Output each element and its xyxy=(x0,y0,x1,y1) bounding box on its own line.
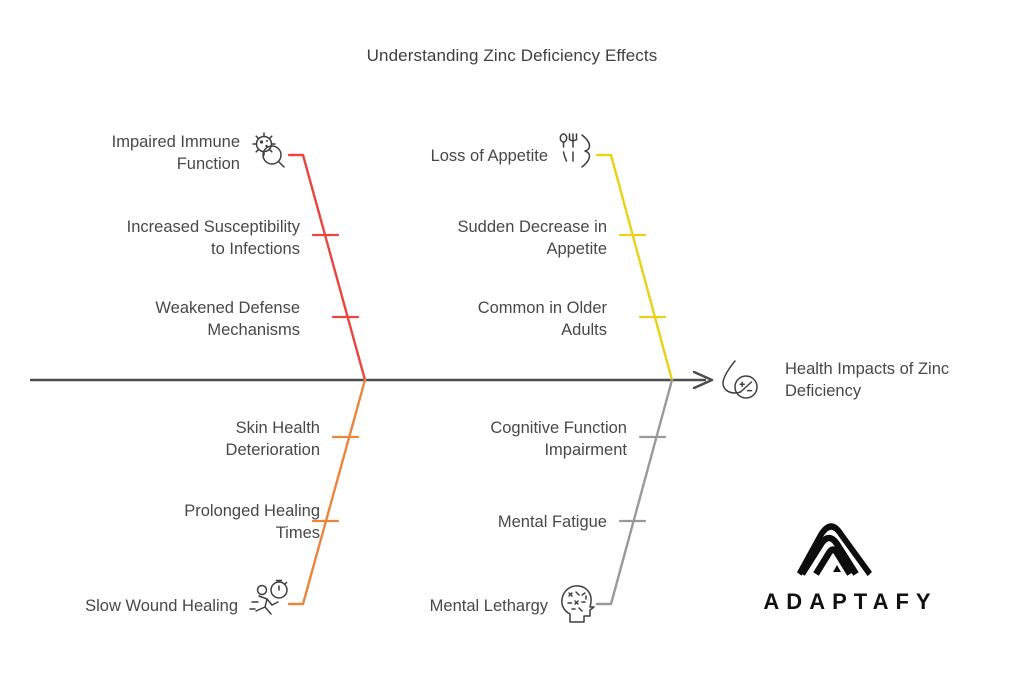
runner-stopwatch-icon xyxy=(248,578,294,631)
cause-label-appetite-1[interactable]: Sudden Decrease in Appetite xyxy=(400,216,607,260)
logo-wordmark: ADAPTAFY xyxy=(752,589,942,615)
branch-line-wound xyxy=(289,380,365,604)
cause-label-wound-1[interactable]: Skin Health Deterioration xyxy=(110,417,320,461)
fishbone-diagram-canvas: Understanding Zinc Deficiency Effects xyxy=(0,0,1024,673)
cause-label-immune-1[interactable]: Increased Susceptibility to Infections xyxy=(70,216,300,260)
adaptafy-arch-logo-icon xyxy=(787,522,907,580)
spine-group xyxy=(30,372,712,388)
fork-spoon-plate-icon xyxy=(556,130,600,179)
branch-line-mental xyxy=(597,380,672,604)
adaptafy-logo: ADAPTAFY xyxy=(752,522,942,615)
cause-label-immune-2[interactable]: Weakened Defense Mechanisms xyxy=(70,297,300,341)
cause-label-appetite-2[interactable]: Common in Older Adults xyxy=(400,297,607,341)
cause-label-wound-2[interactable]: Prolonged Healing Times xyxy=(100,500,320,544)
branch-head-label-immune[interactable]: Impaired Immune Function xyxy=(60,131,240,175)
head-scattered-thoughts-icon xyxy=(556,580,602,631)
cause-label-mental-2[interactable]: Mental Fatigue xyxy=(420,511,607,533)
fishbone-head-label[interactable]: Health Impacts of Zinc Deficiency xyxy=(785,358,1010,402)
water-drop-plus-minus-icon xyxy=(716,357,768,412)
branch-head-label-wound[interactable]: Slow Wound Healing xyxy=(40,595,238,617)
branch-head-label-mental[interactable]: Mental Lethargy xyxy=(390,595,548,617)
branch-line-appetite xyxy=(597,155,672,380)
branch-head-label-appetite[interactable]: Loss of Appetite xyxy=(370,145,548,167)
cause-label-mental-1[interactable]: Cognitive Function Impairment xyxy=(420,417,627,461)
germ-magnifier-icon xyxy=(247,130,291,179)
branch-line-immune xyxy=(289,155,365,380)
